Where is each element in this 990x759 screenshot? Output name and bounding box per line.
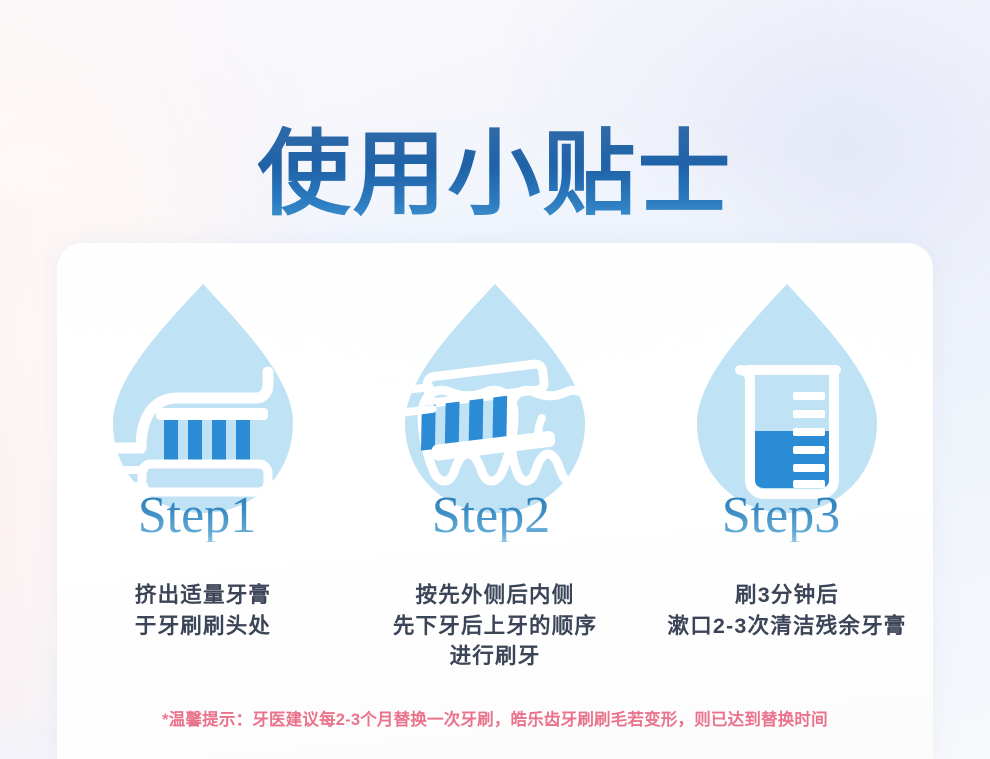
- bristle: [188, 420, 202, 466]
- bristle: [492, 396, 507, 442]
- step-3-description: 刷3分钟后 漱口2-3次清洁残余牙膏: [641, 580, 933, 641]
- step-2-description: 按先外侧后内侧 先下牙后上牙的顺序 进行刷牙: [349, 580, 641, 672]
- footer-note: *温馨提示：牙医建议每2-3个月替换一次牙刷，皓乐齿牙刷刷毛若变形，则已达到替换…: [0, 706, 990, 730]
- step-1-description: 挤出适量牙膏 于牙刷刷头处: [57, 580, 349, 641]
- bristle: [445, 402, 460, 448]
- bristle: [164, 420, 178, 466]
- bristle: [236, 420, 250, 466]
- step-2-label: Step2: [345, 490, 637, 542]
- brush-head-top-plate: [156, 408, 268, 420]
- step-1-label: Step1: [51, 490, 343, 542]
- bristle: [469, 399, 484, 445]
- step-item-1: Step1 挤出适量牙膏 于牙刷刷头处: [57, 268, 349, 688]
- steps-row: Step1 挤出适量牙膏 于牙刷刷头处: [57, 268, 933, 688]
- step-item-2: Step2 按先外侧后内侧 先下牙后上牙的顺序 进行刷牙: [349, 268, 641, 688]
- page-title: 使用小贴士: [258, 126, 733, 224]
- step-3-label: Step3: [635, 490, 927, 542]
- usage-tips-poster: 使用小贴士: [0, 0, 990, 759]
- step-item-3: Step3 刷3分钟后 漱口2-3次清洁残余牙膏: [641, 268, 933, 688]
- bristle: [212, 420, 226, 466]
